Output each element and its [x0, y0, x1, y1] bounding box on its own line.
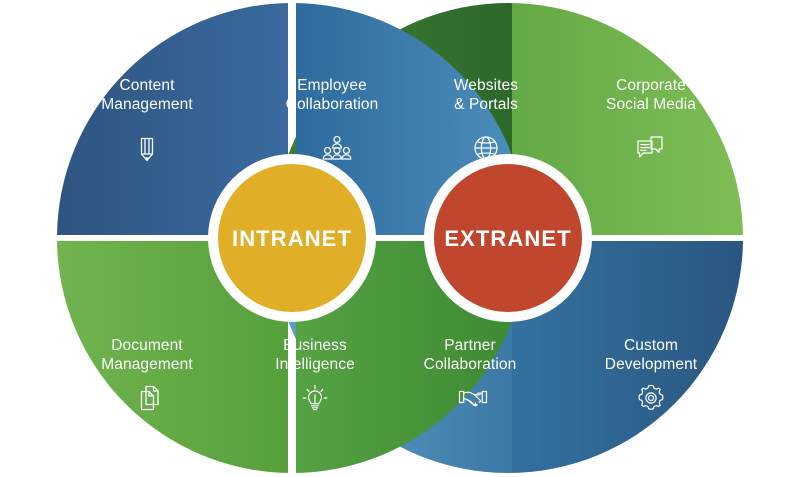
venn-canvas: [0, 0, 800, 477]
gear-icon: [634, 381, 668, 415]
globe-icon: [469, 131, 503, 165]
intranet-hub-disc[interactable]: [218, 164, 366, 312]
extranet-hub-disc[interactable]: [434, 164, 582, 312]
chat-bubbles-icon: [633, 131, 667, 165]
pencil-icon: [130, 131, 164, 165]
lightbulb-icon: [298, 381, 332, 415]
people-group-icon: [320, 131, 354, 165]
venn-diagram: Content Management Employee Collaboratio…: [0, 0, 800, 477]
handshake-icon: [456, 381, 490, 415]
documents-icon: [133, 381, 167, 415]
